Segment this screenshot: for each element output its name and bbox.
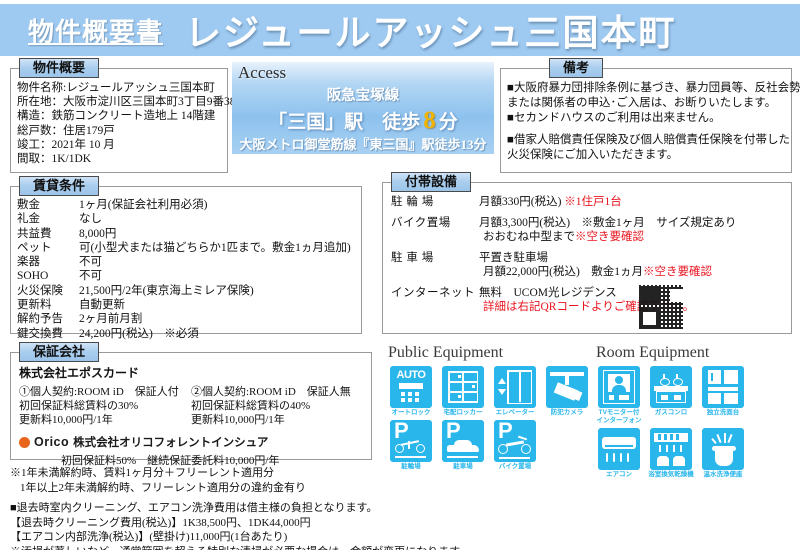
equipment-item-washlet: 温水洗浄便座 — [700, 428, 746, 479]
equipment-label: 駐輪場 — [388, 463, 434, 471]
access-train-line: 阪急宝塚線 — [232, 84, 494, 105]
footnote-line: 【退去時クリーニング費用(税込)】1K38,500円、1DK44,000円 — [10, 516, 530, 531]
guarantor-label: 保証会社 — [19, 342, 99, 362]
equipment-item-gas-stove: ガスコンロ — [648, 366, 694, 425]
guarantor-plan-a: ①個人契約:ROOM iD 保証人付 初回保証料総賃料の30% 更新料10,00… — [19, 385, 191, 427]
equipment-item-washstand: 独立洗面台 — [700, 366, 746, 425]
overview-line: 総戸数：住居179戸 — [17, 124, 227, 138]
row-note: ※空き要確認 — [575, 230, 644, 245]
table-row: 礼金なし — [17, 212, 361, 226]
equipment-label: バイク置場 — [492, 463, 538, 471]
facility-car-parking: 駐 車 場 平置き駐車場 — [391, 251, 791, 266]
overview-line: 間取：1K/1DK — [17, 152, 227, 166]
row-key: 鍵交換費 — [17, 327, 79, 341]
equipment-item-bicycle-parking: P 駐輪場 — [388, 420, 434, 471]
table-row: ペット可(小型犬または猫どちらか1匹まで。敷金1ヵ月追加) — [17, 241, 361, 255]
row-value: 可(小型犬または猫どちらか1匹まで。敷金1ヵ月追加) — [79, 241, 361, 255]
footnote-line: ■退去時室内クリーニング、エアコン洗浄費用は借主様の負担となります。 — [10, 501, 530, 516]
row-key: 敷金 — [17, 198, 79, 212]
plan-line: ②個人契約:ROOM iD 保証人無 — [191, 385, 363, 399]
facilities-rows: 駐 輪 場 月額330円(税込) ※1住戸1台 バイク置場 月額3,300円(税… — [383, 183, 791, 315]
auto-lock-icon: AUTO — [390, 366, 432, 408]
row-value-secondary: 月額22,000円(税込) 敷金1ヵ月 — [483, 265, 643, 280]
guarantor-plans: ①個人契約:ROOM iD 保証人付 初回保証料総賃料の30% 更新料10,00… — [19, 385, 371, 427]
guarantor-plan-b: ②個人契約:ROOM iD 保証人無 初回保証料総賃料の40% 更新料10,00… — [191, 385, 363, 427]
delivery-locker-icon — [442, 366, 484, 408]
equipment-label: エアコン — [596, 471, 642, 479]
access-station-suffix: 分 — [439, 112, 458, 133]
equipment-item-auto-lock: AUTO オートロック — [388, 366, 434, 417]
remarks-label: 備考 — [549, 58, 603, 78]
document-type-label: 物件概要書 — [28, 12, 163, 49]
equipment-label: 浴室換気乾燥機 — [648, 471, 694, 479]
rent-conditions-rows: 敷金1ヶ月(保証会社利用必須) 礼金なし 共益費8,000円 ペット可(小型犬ま… — [11, 187, 361, 341]
row-value: 8,000円 — [79, 227, 361, 241]
row-value: 無料 UCOM光レジデンス — [479, 286, 791, 301]
bath-dryer-icon — [650, 428, 692, 470]
property-overview-lines: 物件名称:レジュールアッシュ三国本町 所在地：大阪市淀川区三国本町3丁目9番38… — [11, 69, 227, 166]
equipment-item-car-parking: P 駐車場 — [440, 420, 486, 471]
public-equipment-grid: AUTO オートロック — [388, 366, 593, 471]
equipment-label: 独立洗面台 — [700, 409, 746, 417]
washstand-icon — [702, 366, 744, 408]
row-value-secondary: おおむね中型まで — [483, 230, 575, 245]
elevator-icon — [494, 366, 536, 408]
table-row: 敷金1ヶ月(保証会社利用必須) — [17, 198, 361, 212]
washlet-icon — [702, 428, 744, 470]
row-key: 更新料 — [17, 298, 79, 312]
equipment-item-bath-dryer: 浴室換気乾燥機 — [648, 428, 694, 479]
overview-line: 物件名称:レジュールアッシュ三国本町 — [17, 81, 227, 95]
rent-conditions-section: 賃貸条件 敷金1ヶ月(保証会社利用必須) 礼金なし 共益費8,000円 ペット可… — [10, 186, 362, 334]
remarks-section: 備考 ■大阪府暴力団排除条例に基づき、暴力団員等、反社会勢力 または関係者の申込… — [500, 68, 792, 173]
equipment-label: エレベーター — [492, 409, 538, 417]
plan-line: 初回保証料総賃料の30% — [19, 399, 191, 413]
row-value: 21,500円/2年(東京海上ミレア保険) — [79, 284, 361, 298]
room-equipment-grid: TVモニター付インターフォン ガスコンロ — [596, 366, 796, 479]
row-key: インターネット — [391, 286, 479, 301]
access-station-prefix: 「三国」駅 徒歩 — [268, 112, 420, 133]
access-station-walk: 「三国」駅 徒歩8分 — [232, 107, 494, 135]
guarantor-section: 保証会社 株式会社エポスカード ①個人契約:ROOM iD 保証人付 初回保証料… — [10, 352, 372, 460]
row-value: 不可 — [79, 255, 361, 269]
equipment-item-air-conditioner: エアコン — [596, 428, 642, 479]
remarks-line: ■セカンドハウスのご利用は出来ません。 — [507, 111, 791, 126]
facility-motorcycle-parking: バイク置場 月額3,300円(税込) ※敷金1ヶ月 サイズ規定あり — [391, 216, 791, 231]
remarks-line: ■大阪府暴力団排除条例に基づき、暴力団員等、反社会勢力 — [507, 81, 791, 96]
overview-line: 構造：鉄筋コンクリート造地上 14階建 — [17, 109, 227, 123]
table-row: 楽器不可 — [17, 255, 361, 269]
remarks-line: または関係者の申込･ご入居は、お断りいたします。 — [507, 96, 791, 111]
access-secondary-station: 大阪メトロ御堂筋線『東三国』駅徒歩13分 — [232, 134, 494, 153]
equipment-label: 駐車場 — [440, 463, 486, 471]
row-note: ※1住戸1台 — [564, 196, 622, 208]
equipment-item-delivery-locker: 宅配ロッカー — [440, 366, 486, 417]
equipment-label: 宅配ロッカー — [440, 409, 486, 417]
row-value: 24,200円(税込) ※必須 — [79, 327, 361, 341]
air-conditioner-icon — [598, 428, 640, 470]
orico-logo-row: Orico 株式会社オリコフォレントインシュア — [19, 434, 371, 450]
access-label: Access — [238, 63, 286, 83]
tv-intercom-icon — [598, 366, 640, 408]
equipment-item-tv-intercom: TVモニター付インターフォン — [596, 366, 642, 425]
row-key: 共益費 — [17, 227, 79, 241]
plan-line: 初回保証料総賃料の40% — [191, 399, 363, 413]
public-equipment-panel: Public Equipment AUTO オートロック — [388, 344, 593, 471]
bicycle-parking-icon: P — [390, 420, 432, 462]
equipment-item-motorcycle-parking: P バイク置場 — [492, 420, 538, 471]
table-row: 更新料自動更新 — [17, 298, 361, 312]
row-key: 駐 輪 場 — [391, 195, 479, 210]
overview-line: 所在地：大阪市淀川区三国本町3丁目9番38号 — [17, 95, 227, 109]
remarks-lines: ■大阪府暴力団排除条例に基づき、暴力団員等、反社会勢力 または関係者の申込･ご入… — [501, 69, 791, 163]
row-value: 自動更新 — [79, 298, 361, 312]
equipment-label: ガスコンロ — [648, 409, 694, 417]
table-row: SOHO不可 — [17, 269, 361, 283]
access-walk-minutes: 8 — [420, 107, 439, 134]
room-equipment-panel: Room Equipment TVモニター付インターフォン — [596, 344, 796, 479]
rent-conditions-label: 賃貸条件 — [19, 176, 99, 196]
public-equipment-title: Public Equipment — [388, 344, 593, 362]
property-overview-section: 物件概要 物件名称:レジュールアッシュ三国本町 所在地：大阪市淀川区三国本町3丁… — [10, 68, 228, 173]
row-value: なし — [79, 212, 361, 226]
row-key: ペット — [17, 241, 79, 255]
facility-bicycle-parking: 駐 輪 場 月額330円(税込) ※1住戸1台 — [391, 195, 791, 210]
equipment-label: 温水洗浄便座 — [700, 471, 746, 479]
access-section: Access 阪急宝塚線 「三国」駅 徒歩8分 大阪メトロ御堂筋線『東三国』駅徒… — [232, 62, 494, 154]
table-row: 共益費8,000円 — [17, 227, 361, 241]
footnote-line: 【エアコン内部洗浄(税込)】(壁掛け)11,000円(1台あたり) — [10, 530, 530, 545]
plan-line: 更新料10,000円/1年 — [191, 413, 363, 427]
row-value: 2ヶ月前月割 — [79, 312, 361, 326]
table-row: 火災保険21,500円/2年(東京海上ミレア保険) — [17, 284, 361, 298]
row-value: 月額3,300円(税込) ※敷金1ヶ月 サイズ規定あり — [479, 216, 791, 231]
orico-dot-icon — [19, 437, 30, 448]
row-note: ※空き要確認 — [643, 265, 712, 280]
row-value: 月額330円(税込) — [479, 196, 561, 208]
orico-company-name: 株式会社オリコフォレントインシュア — [73, 434, 268, 450]
remarks-line: ■借家人賠償責任保険及び個人賠償責任保険を付帯した — [507, 133, 791, 148]
security-camera-icon — [546, 366, 588, 408]
qr-code[interactable] — [639, 285, 683, 329]
equipment-label: オートロック — [388, 409, 434, 417]
facilities-section: 付帯設備 駐 輪 場 月額330円(税込) ※1住戸1台 バイク置場 月額3,3… — [382, 182, 792, 334]
plan-line: ①個人契約:ROOM iD 保証人付 — [19, 385, 191, 399]
gas-stove-icon — [650, 366, 692, 408]
row-value: 平置き駐車場 — [479, 251, 791, 266]
facilities-label: 付帯設備 — [391, 172, 471, 192]
page-title: レジュールアッシュ三国本町 — [185, 4, 676, 56]
overview-line: 竣工：2021年 10 月 — [17, 138, 227, 152]
row-key: SOHO — [17, 269, 79, 283]
row-value: 1ヶ月(保証会社利用必須) — [79, 198, 361, 212]
equipment-item-elevator: エレベーター — [492, 366, 538, 417]
equipment-label: TVモニター付インターフォン — [596, 409, 642, 425]
row-value: 不可 — [79, 269, 361, 283]
remarks-line: 火災保険にご加入いただきます。 — [507, 148, 791, 163]
footnotes: ※1年未満解約時、賃料1ヶ月分＋フリーレント適用分 1年以上2年未満解約時、フリ… — [10, 466, 530, 550]
row-key: 駐 車 場 — [391, 251, 479, 266]
car-parking-icon: P — [442, 420, 484, 462]
property-overview-label: 物件概要 — [19, 58, 99, 78]
row-key: 火災保険 — [17, 284, 79, 298]
plan-line: 更新料10,000円/1年 — [19, 413, 191, 427]
orico-logo-text: Orico — [34, 435, 69, 449]
row-key: 解約予告 — [17, 312, 79, 326]
equipment-label: 防犯カメラ — [544, 409, 590, 417]
row-key: 楽器 — [17, 255, 79, 269]
motorcycle-parking-icon: P — [494, 420, 536, 462]
property-summary-document: 物件概要書 レジュールアッシュ三国本町 物件概要 物件名称:レジュールアッシュ三… — [0, 0, 800, 550]
room-equipment-title: Room Equipment — [596, 344, 796, 362]
table-row: 鍵交換費24,200円(税込) ※必須 — [17, 327, 361, 341]
equipment-item-security-camera: 防犯カメラ — [544, 366, 590, 417]
footnote-line: ※汚損が著しいなど、通常範囲を超える特別な清掃が必要な場合は、金額が変更になりま… — [10, 545, 530, 550]
internet-qr-note: 詳細は右記QRコードよりご確認下さい。 — [391, 300, 791, 315]
guarantor-company-name: 株式会社エポスカード — [19, 364, 371, 381]
table-row: 解約予告2ヶ月前月割 — [17, 312, 361, 326]
facility-internet: インターネット 無料 UCOM光レジデンス — [391, 286, 791, 301]
row-key: バイク置場 — [391, 216, 479, 231]
footnote-line: 1年以上2年未満解約時、フリーレント適用分の違約金有り — [10, 481, 530, 496]
header-banner: 物件概要書 レジュールアッシュ三国本町 — [0, 4, 800, 56]
row-key: 礼金 — [17, 212, 79, 226]
